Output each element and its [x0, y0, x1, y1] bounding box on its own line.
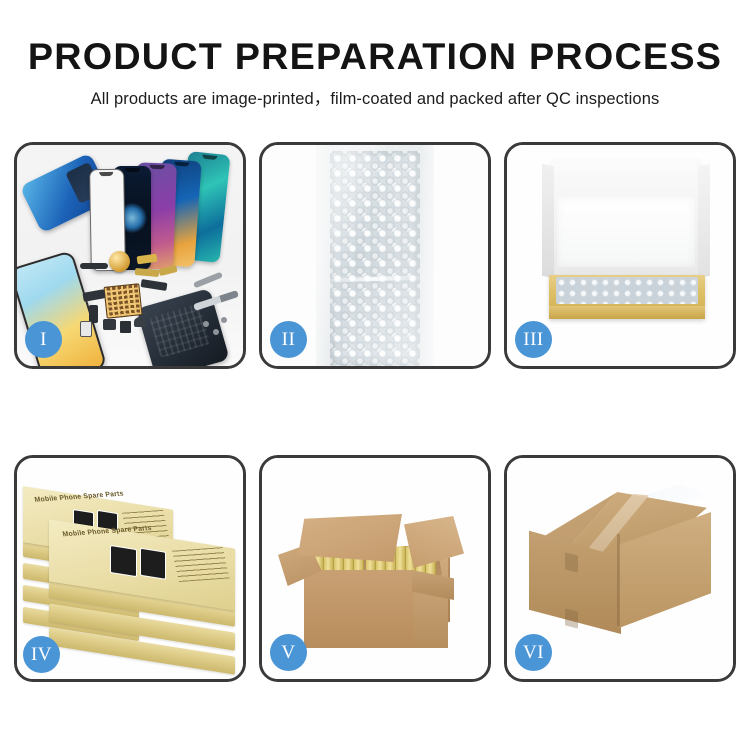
- notch-icon: [202, 155, 217, 161]
- foam-insert-icon: [557, 197, 695, 267]
- carton-handle-tab-icon: [565, 608, 578, 628]
- carton-handle-tab-icon: [565, 552, 578, 572]
- carton-front-face: [304, 570, 414, 648]
- flex-cable-icon: [80, 263, 108, 269]
- process-steps-grid: I II: [14, 142, 736, 682]
- box-front-lip: [549, 306, 705, 319]
- carton-vertical-seam: [617, 534, 620, 626]
- page-title: PRODUCT PREPARATION PROCESS: [0, 0, 750, 78]
- step-badge-3: III: [515, 321, 552, 358]
- step-badge-2: II: [270, 321, 307, 358]
- box-artwork-screen-icon: [110, 545, 136, 577]
- carton-flap-right-icon: [404, 516, 464, 568]
- earpiece-icon: [134, 317, 146, 327]
- notch-icon: [149, 165, 164, 170]
- step-card-6: VI: [504, 455, 736, 682]
- ic-chip-icon: [120, 321, 131, 333]
- box-spec-lines: [172, 547, 230, 582]
- step-badge-1: I: [25, 321, 62, 358]
- vibrator-icon: [103, 319, 116, 330]
- step-card-1: I: [14, 142, 246, 369]
- step-badge-4: IV: [23, 636, 60, 673]
- page-header: PRODUCT PREPARATION PROCESS All products…: [0, 0, 750, 109]
- screw-icon: [221, 317, 227, 323]
- step-badge-6: VI: [515, 634, 552, 671]
- page-subtitle: All products are image-printed，film-coat…: [0, 78, 750, 109]
- notch-icon: [174, 162, 189, 167]
- notch-icon: [125, 168, 140, 172]
- step-card-2: II: [259, 142, 491, 369]
- box-label-text: Mobile Phone Spare Parts: [34, 490, 124, 504]
- box-artwork-screen-icon: [140, 547, 166, 579]
- bubble-wrapped-item-icon: [556, 277, 698, 304]
- carton-flap-back-icon: [298, 514, 402, 562]
- step-card-3: III: [504, 142, 736, 369]
- step-badge-5: V: [270, 634, 307, 671]
- phone-fan-group: [79, 151, 243, 281]
- screw-icon: [203, 321, 209, 327]
- bubble-wrap-sleeve-icon: [316, 145, 434, 366]
- product-preparation-page: PRODUCT PREPARATION PROCESS All products…: [0, 0, 750, 750]
- speaker-module-icon: [109, 251, 130, 272]
- step-card-4: Mobile Phone Spare Parts Mobile Phone Sp…: [14, 455, 246, 682]
- kraft-inner-box-icon: [549, 275, 705, 319]
- plastic-gloss-overlay: [316, 145, 434, 366]
- step-card-5: V: [259, 455, 491, 682]
- battery-connector-icon: [80, 321, 92, 337]
- camera-module-icon: [82, 289, 105, 302]
- screw-icon: [213, 329, 219, 335]
- screw-tray-icon: [103, 283, 142, 319]
